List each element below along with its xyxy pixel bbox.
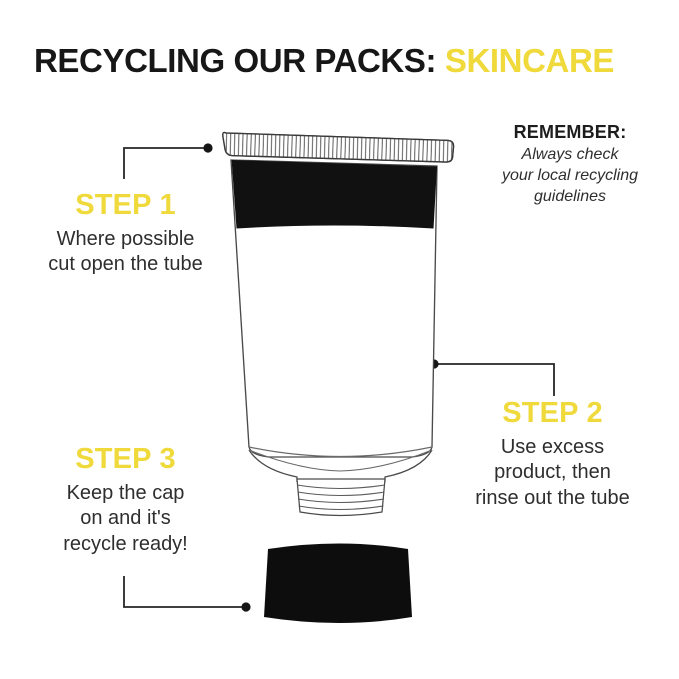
leader-line-step-3 [124, 576, 251, 612]
leader-dot-step-1 [203, 143, 212, 152]
tube-label-band [232, 160, 437, 229]
illustration-tube-and-cap [0, 0, 679, 679]
tube-threaded-neck [297, 479, 385, 516]
step-1-line-1: Where possible [18, 227, 233, 253]
step-2-line-3: rinse out the tube [440, 486, 665, 512]
step-1-line-2: cut open the tube [18, 252, 233, 278]
step-block-3: STEP 3 Keep the cap on and it's recycle … [18, 444, 233, 558]
step-3-line-1: Keep the cap [18, 481, 233, 507]
step-2-line-1: Use excess [440, 435, 665, 461]
infographic-poster: RECYCLING OUR PACKS: SKINCARE [0, 0, 679, 679]
step-3-line-2: on and it's [18, 506, 233, 532]
tube-cap [264, 544, 412, 624]
leader-dot-step-3 [241, 602, 250, 611]
remember-line-1: Always check [472, 145, 668, 166]
step-3-line-3: recycle ready! [18, 532, 233, 558]
leader-line-step-1 [124, 143, 213, 179]
step-3-heading: STEP 3 [18, 444, 233, 476]
step-block-2: STEP 2 Use excess product, then rinse ou… [440, 398, 665, 512]
step-2-line-2: product, then [440, 460, 665, 486]
leader-line-step-2 [429, 359, 554, 396]
remember-heading: REMEMBER: [472, 122, 668, 143]
remember-note: REMEMBER: Always check your local recycl… [472, 122, 668, 207]
step-block-1: STEP 1 Where possible cut open the tube [18, 190, 233, 278]
remember-line-2: your local recycling [472, 166, 668, 187]
step-1-heading: STEP 1 [18, 190, 233, 222]
remember-line-3: guidelines [472, 187, 668, 208]
step-2-heading: STEP 2 [440, 398, 665, 430]
